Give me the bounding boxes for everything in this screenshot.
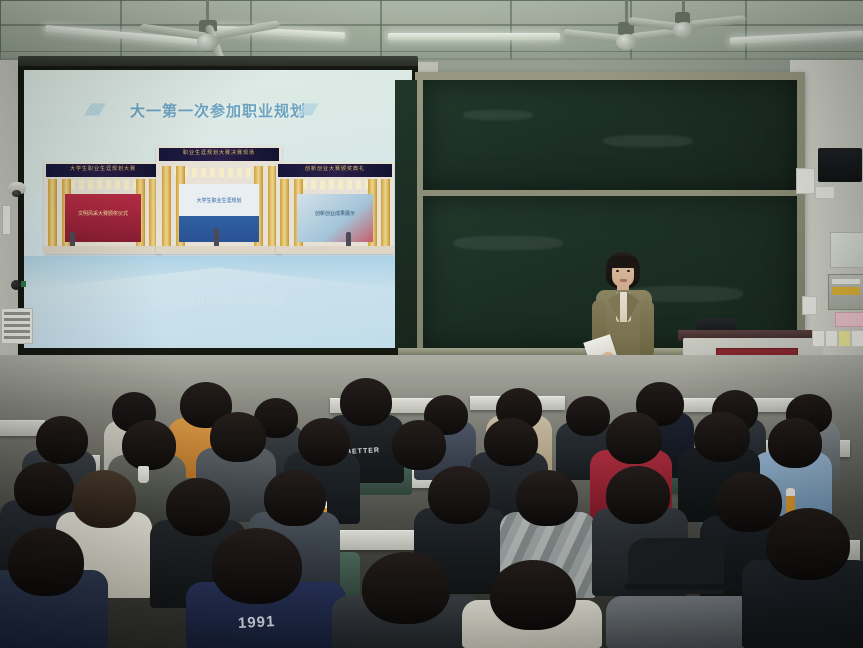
student-head: [428, 466, 490, 524]
presenter-eye-right: [627, 270, 630, 272]
student-head: [516, 470, 578, 526]
student-head: [36, 416, 88, 464]
fan-motor: [616, 34, 638, 50]
student-head: [212, 528, 302, 604]
fan-motor: [197, 34, 219, 50]
paper-cup: [138, 466, 149, 483]
stage-photo-right: 创新创业大赛颁奖典礼 创新创业成果展示: [276, 162, 394, 254]
poster-line: [4, 330, 30, 333]
switch[interactable]: [851, 330, 863, 347]
student-head: [490, 560, 576, 630]
student-head: [694, 412, 750, 462]
student-head: [484, 418, 538, 466]
presenter-arm-right: [640, 300, 654, 358]
lecture-hall-photo: ////// 大一第一次参加职业规划 ////// 大学生职业生涯规划大赛 文明…: [0, 0, 863, 648]
stage-floor: [276, 246, 394, 254]
presenter-fringe: [607, 256, 639, 268]
chalk-smudge: [453, 236, 563, 250]
student-head: [14, 462, 74, 516]
poster-line: [4, 336, 30, 339]
student-head: [122, 420, 176, 470]
stage-pillar: [162, 166, 171, 246]
student-head: [298, 418, 350, 466]
presenter-mouth: [620, 279, 627, 282]
slide-wedge-graphic: [24, 256, 412, 290]
led-banner-text: 职业生涯规划大赛决赛现场: [156, 149, 282, 156]
stage-backdrop-text: 创新创业成果展示: [297, 210, 373, 217]
student-head: [392, 420, 446, 470]
student-head: [72, 470, 136, 528]
stage-backdrop-screen: 文明风采大赛颁奖仪式: [65, 194, 141, 242]
switch[interactable]: [812, 330, 825, 347]
pink-note: [835, 312, 863, 327]
presenter-eye-left: [616, 270, 619, 272]
wall-poster-right: [830, 232, 863, 268]
panel-label: [832, 279, 860, 284]
student-head: [606, 466, 670, 524]
camera-lens-icon: [12, 190, 21, 197]
student-head: [766, 508, 850, 580]
chalk-smudge: [603, 135, 693, 147]
student-head: [264, 470, 326, 526]
loudspeaker: [818, 148, 862, 182]
poster-line: [4, 312, 30, 315]
stage-backdrop-text: 大学生职业生涯规划: [179, 197, 260, 204]
wall-indicator: [21, 281, 26, 287]
stage-backdrop-screen: 创新创业成果展示: [297, 194, 373, 242]
student-head: [606, 412, 662, 464]
notice-poster-left: [1, 308, 33, 344]
stage-bulb-row: [293, 180, 378, 189]
student-head: [362, 552, 450, 624]
slide-title: 大一第一次参加职业规划: [24, 100, 412, 121]
student-head: [768, 418, 822, 468]
switch-row: [812, 330, 863, 345]
poster-line: [4, 318, 30, 321]
slide-subtitle: 激发起对PPT学习的兴趣: [24, 292, 412, 307]
student-head: [566, 396, 610, 436]
stage-pillar: [280, 179, 289, 246]
stage-photo-center: 职业生涯规划大赛决赛现场 大学生职业生涯规划: [156, 146, 282, 254]
wall-knob: [11, 280, 21, 290]
junction-box: [796, 168, 815, 194]
led-banner-text: 创新创业大赛颁奖典礼: [276, 165, 394, 172]
projected-slide: ////// 大一第一次参加职业规划 ////// 大学生职业生涯规划大赛 文明…: [24, 70, 412, 348]
stage-bulb-row: [61, 180, 146, 189]
fluorescent-tube: [388, 33, 560, 40]
chalk-smudge: [463, 110, 533, 120]
power-socket: [815, 186, 835, 199]
stage-backdrop-text: 文明风采大赛颁奖仪式: [65, 210, 141, 217]
blackboard-upper-panel: [423, 80, 797, 190]
student-head: [166, 478, 230, 536]
stage-bulb-row: [174, 168, 265, 177]
slide-photo-row: 大学生职业生涯规划大赛 文明风采大赛颁奖仪式 职业生涯规划大赛决赛现场: [44, 140, 394, 260]
student-torso: [606, 596, 756, 648]
student-head: [210, 412, 266, 462]
student-head: [8, 528, 84, 596]
switch[interactable]: [825, 330, 838, 347]
stage-floor: [156, 246, 282, 254]
student-head: [340, 378, 392, 426]
vertical-sign: [2, 205, 11, 235]
light-switch: [802, 296, 817, 315]
poster-line: [4, 324, 30, 327]
jacket-text: 1991: [238, 613, 276, 632]
blackboard-left-panel: [395, 80, 417, 348]
cap-brim: [624, 584, 736, 590]
stage-pillar: [48, 179, 57, 246]
stage-floor: [44, 246, 162, 254]
stage-pillar: [381, 179, 390, 246]
led-banner-text: 大学生职业生涯规划大赛: [44, 165, 162, 172]
control-panel: [828, 274, 863, 310]
panel-warning-strip: [832, 287, 860, 295]
fan-motor: [673, 22, 695, 38]
fan-rod: [206, 0, 209, 22]
stage-photo-left: 大学生职业生涯规划大赛 文明风采大赛颁奖仪式: [44, 162, 162, 254]
switch[interactable]: [838, 330, 851, 347]
